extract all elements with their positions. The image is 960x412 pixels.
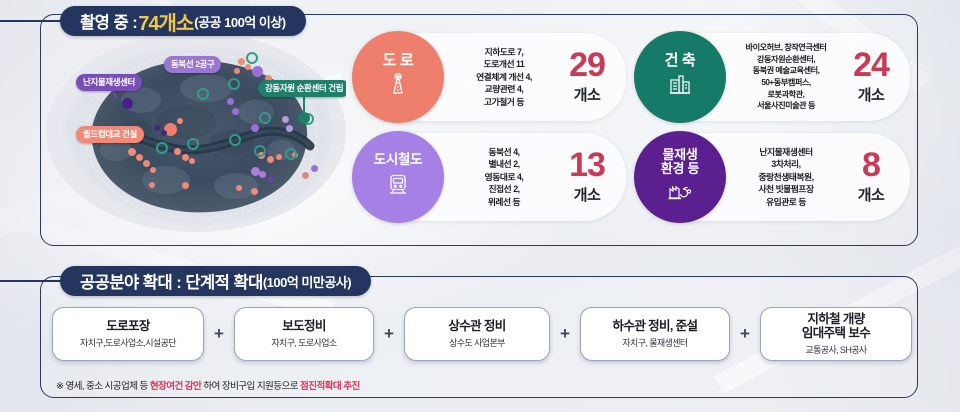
map-marker-nanji (122, 98, 133, 109)
stage-title: 도로포장 (106, 319, 150, 333)
map-dot (302, 172, 309, 179)
map-dot (143, 160, 150, 167)
map-dot (311, 165, 318, 172)
building-icon (668, 72, 692, 101)
top-title-prefix: 촬영 중 : (80, 9, 137, 33)
road-icon (386, 72, 410, 101)
map-dot (128, 148, 136, 156)
stage-title: 지하철 개량 임대주택 보수 (802, 312, 870, 341)
map-dot (259, 171, 266, 178)
stage-title: 하수관 정비, 준설 (613, 319, 698, 333)
category-count: 13 (569, 149, 605, 181)
map-label-gangdong: 강동자원 순환센터 건립 (258, 80, 346, 97)
map-dot (267, 156, 274, 163)
top-title-suffix: (공공 100억 이상) (194, 12, 285, 31)
bottom-section-title: 공공분야 확대 : 단계적 확대 (100억 미만공사) (60, 266, 371, 296)
stage-box-road-paving[interactable]: 도로포장 자치구,도로사업소,시설공단 (52, 307, 204, 361)
stage-box-sewer[interactable]: 하수관 정비, 준설 자치구, 물재생센터 (580, 307, 730, 361)
top-title-number: 74개소 (137, 7, 194, 36)
map-marker-gangdong (298, 112, 310, 124)
map-dot (227, 98, 234, 105)
category-items: 바이오허브, 창작연극센터 강동자원순환센터, 동북권 예술교육센터, 50+동… (746, 42, 827, 112)
category-items: 난지물재생센터 3차처리, 중랑천생태복원, 사천 빗물펌프장 유입관로 등 (758, 146, 813, 208)
category-items-container: 바이오허브, 창작연극센터 강동자원순환센터, 동북권 예술교육센터, 50+동… (728, 33, 844, 121)
category-count-container: 24 개소 (838, 33, 904, 121)
plus-icon: + (558, 324, 572, 344)
map-dot (251, 124, 259, 132)
category-row-urban-rail[interactable]: 도시철도 동북선 4, 별내선 2, 영동대로 4, 진접선 2, 위례선 등 … (358, 133, 626, 221)
map-dot (174, 148, 181, 155)
map-dot (236, 185, 242, 191)
map-dot (161, 130, 167, 136)
category-badge-urban-rail: 도시철도 (352, 131, 444, 223)
stage-box-water-supply[interactable]: 상수관 정비 상수도 사업본부 (404, 307, 550, 361)
map-label-worldcup: 월드컵대교 건설 (76, 126, 144, 143)
category-name: 도 로 (383, 53, 414, 69)
category-row-water-environment[interactable]: 물재생 환경 등 난지물재생센터 3차처리, 중랑천생태복원, 사천 빗물펌프장… (640, 133, 910, 221)
stage-subtitle: 상수도 사업본부 (449, 336, 505, 349)
footnote-highlight-1: 현장여건 감안 (150, 381, 201, 392)
map-dot (245, 64, 251, 70)
stage-box-subway-housing[interactable]: 지하철 개량 임대주택 보수 교통공사, SH공사 (760, 307, 912, 361)
stage-box-sidewalk[interactable]: 보도정비 자치구, 도로사업소 (234, 307, 374, 361)
stage-title: 보도정비 (282, 319, 326, 333)
map-dot-outline (246, 52, 258, 64)
category-name: 도시철도 (374, 153, 422, 167)
map-dot (189, 158, 195, 164)
map-dot-outline (228, 78, 240, 90)
map-dot (154, 125, 160, 131)
footnote-mark: ※ (56, 381, 63, 392)
category-row-building[interactable]: 건 축 바이오허브, 창작연극센터 강동자원순환센터, 동북권 예술교육센터, … (640, 33, 910, 121)
category-count: 29 (569, 49, 605, 81)
map-dot (232, 108, 239, 115)
bottom-title-suffix: (100억 미만공사) (263, 272, 351, 291)
map-label-dongbuk: 동북선 2공구 (164, 56, 221, 73)
map-dot (149, 182, 155, 188)
plus-icon: + (382, 324, 396, 344)
category-items-container: 동북선 4, 별내선 2, 영동대로 4, 진접선 2, 위례선 등 (450, 133, 558, 221)
map-dot-outline (187, 138, 199, 150)
category-name: 물재생 환경 등 (661, 148, 699, 175)
category-count: 24 (853, 49, 889, 81)
map-dot-outline (254, 145, 266, 157)
footnote-part2: 하여 장비구입 지원등으로 (201, 381, 300, 392)
map-label-nanji: 난지물재생센터 (76, 74, 142, 91)
map-dot (286, 125, 293, 132)
map-dot (238, 58, 245, 65)
category-unit: 개소 (574, 184, 601, 205)
bottom-title-prefix: 공공분야 확대 : 단계적 확대 (80, 269, 263, 293)
footnote: ※영세, 중소 시공업체 등 현장여건 감안 하여 장비구입 지원등으로 점진적… (56, 378, 756, 394)
map-dot (234, 68, 240, 74)
top-pill-rule (0, 20, 66, 22)
plus-icon: + (212, 324, 226, 344)
category-count-container: 13 개소 (554, 133, 620, 221)
map-dot (182, 154, 189, 161)
stage-subtitle: 자치구, 도로사업소 (271, 336, 336, 349)
category-items: 동북선 4, 별내선 2, 영동대로 4, 진접선 2, 위례선 등 (485, 146, 524, 208)
map-dot (282, 116, 289, 123)
top-section-title: 촬영 중 : 74개소 (공공 100억 이상) (60, 6, 306, 36)
stage-subtitle: 자치구,도로사업소,시설공단 (80, 336, 176, 349)
map-dot (182, 182, 189, 189)
category-items-container: 지하도로 7, 도로개선 11 연결체계 개선 4, 교량관련 4, 고가철거 … (450, 33, 558, 121)
map-dot (252, 66, 263, 77)
category-name: 건 축 (665, 53, 696, 69)
category-items-container: 난지물재생센터 3차처리, 중랑천생태복원, 사천 빗물펌프장 유입관로 등 (730, 133, 842, 221)
map-dot (136, 154, 143, 161)
category-unit: 개소 (858, 184, 885, 205)
category-count: 8 (862, 149, 880, 181)
map-dot (268, 176, 274, 182)
map-dot-outline (259, 112, 271, 124)
category-unit: 개소 (574, 84, 601, 105)
map-dot (150, 167, 156, 173)
stage-subtitle: 교통공사, SH공사 (805, 343, 866, 356)
seoul-map: 동북선 2공구 난지물재생센터 강동자원 순환센터 건립 월드컵대교 건설 (46, 30, 346, 235)
stage-title: 상수관 정비 (448, 319, 505, 333)
map-dot (251, 188, 258, 195)
map-dot (177, 118, 183, 124)
footnote-highlight-2: 점진적확대 추진 (300, 381, 360, 392)
category-count-container: 8 개소 (838, 133, 904, 221)
footnote-part1: 영세, 중소 시공업체 등 (65, 381, 149, 392)
map-dot-outline (229, 134, 241, 146)
map-dot-outline (285, 148, 297, 160)
category-unit: 개소 (858, 84, 885, 105)
stage-list: 도로포장 자치구,도로사업소,시설공단 + 보도정비 자치구, 도로사업소 + … (52, 306, 912, 362)
category-count-container: 29 개소 (554, 33, 620, 121)
map-dot-outline (156, 142, 168, 154)
category-badge-water-environment: 물재생 환경 등 (634, 131, 726, 223)
category-badge-road: 도 로 (352, 31, 444, 123)
map-dot (276, 154, 282, 160)
stage-subtitle: 자치구, 물재생센터 (622, 336, 687, 349)
category-row-road[interactable]: 도 로 지하도로 7, 도로개선 11 연결체계 개선 4, 교량관련 4, 고… (358, 33, 626, 121)
map-dot-outline (197, 88, 209, 100)
plus-icon: + (738, 324, 752, 344)
train-icon (386, 172, 410, 201)
water-plant-icon (667, 179, 693, 206)
category-badge-building: 건 축 (634, 31, 726, 123)
category-items: 지하도로 7, 도로개선 11 연결체계 개선 4, 교량관련 4, 고가철거 … (476, 46, 532, 108)
bottom-pill-rule (0, 280, 66, 282)
